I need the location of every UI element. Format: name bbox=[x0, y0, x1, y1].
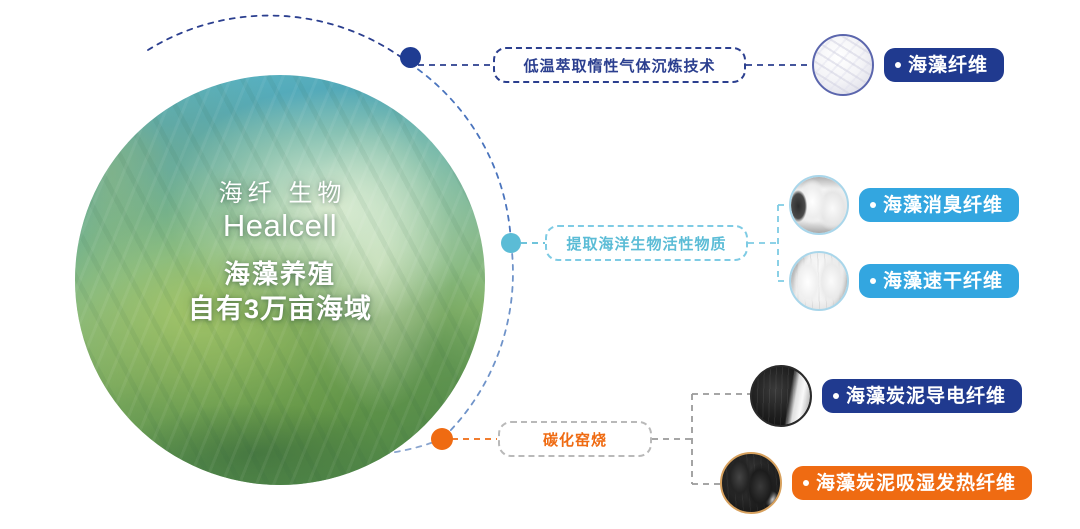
stage-dot-carbonize[interactable] bbox=[431, 428, 453, 450]
product-pill-conductive-fiber[interactable]: 海藻炭泥导电纤维 bbox=[822, 379, 1022, 413]
hero-text-block: 海纤 生物 Healcell 海藻养殖 自有3万亩海域 bbox=[75, 181, 485, 326]
hero-kelp-circle: 海纤 生物 Healcell 海藻养殖 自有3万亩海域 bbox=[75, 75, 485, 485]
thumb-white-yarn-cone bbox=[789, 251, 849, 311]
process-label-carbonize-text: 碳化窑烧 bbox=[543, 429, 607, 450]
thumb-black-carbon-cones bbox=[720, 452, 782, 514]
product-pill-quickdry-fiber[interactable]: 海藻速干纤维 bbox=[859, 264, 1019, 298]
process-label-extract[interactable]: 提取海洋生物活性物质 bbox=[545, 225, 748, 261]
process-label-low-temp[interactable]: 低温萃取惰性气体沉炼技术 bbox=[493, 47, 746, 83]
infographic-canvas: 海纤 生物 Healcell 海藻养殖 自有3万亩海域 低温萃取惰性气体沉炼技术… bbox=[0, 0, 1080, 529]
product-name-heating-fiber: 海藻炭泥吸湿发热纤维 bbox=[816, 474, 1016, 493]
hero-tagline-line-2: 自有3万亩海域 bbox=[75, 293, 485, 327]
product-row-conductive-fiber[interactable]: 海藻炭泥导电纤维 bbox=[750, 365, 1022, 427]
process-label-extract-text: 提取海洋生物活性物质 bbox=[566, 233, 726, 254]
pill-bullet-icon bbox=[803, 480, 809, 486]
process-label-low-temp-text: 低温萃取惰性气体沉炼技术 bbox=[523, 55, 715, 76]
pill-bullet-icon bbox=[870, 278, 876, 284]
stage-dot-low-temp[interactable] bbox=[400, 47, 421, 68]
pill-bullet-icon bbox=[870, 202, 876, 208]
product-name-quickdry-fiber: 海藻速干纤维 bbox=[883, 272, 1003, 291]
process-label-carbonize[interactable]: 碳化窑烧 bbox=[498, 421, 652, 457]
thumb-white-yarn-spools bbox=[789, 175, 849, 235]
product-pill-seaweed-fiber[interactable]: 海藻纤维 bbox=[884, 48, 1004, 82]
brand-name-cn: 海纤 生物 bbox=[80, 181, 485, 207]
product-row-heating-fiber[interactable]: 海藻炭泥吸湿发热纤维 bbox=[720, 452, 1032, 514]
brand-name-en: Healcell bbox=[75, 208, 485, 244]
product-name-deodorant-fiber: 海藻消臭纤维 bbox=[883, 196, 1003, 215]
product-name-seaweed-fiber: 海藻纤维 bbox=[908, 56, 988, 75]
product-row-deodorant-fiber[interactable]: 海藻消臭纤维 bbox=[789, 175, 1019, 235]
thumb-white-fiber-tuft bbox=[812, 34, 874, 96]
product-pill-heating-fiber[interactable]: 海藻炭泥吸湿发热纤维 bbox=[792, 466, 1032, 500]
product-row-quickdry-fiber[interactable]: 海藻速干纤维 bbox=[789, 251, 1019, 311]
thumb-black-carbon-spool bbox=[750, 365, 812, 427]
product-row-seaweed-fiber[interactable]: 海藻纤维 bbox=[812, 34, 1004, 96]
pill-bullet-icon bbox=[895, 62, 901, 68]
pill-bullet-icon bbox=[833, 393, 839, 399]
stage-dot-extract[interactable] bbox=[501, 233, 521, 253]
hero-tagline-line-1: 海藻养殖 bbox=[75, 258, 485, 291]
product-pill-deodorant-fiber[interactable]: 海藻消臭纤维 bbox=[859, 188, 1019, 222]
arc-segment-top bbox=[148, 16, 409, 63]
product-name-conductive-fiber: 海藻炭泥导电纤维 bbox=[846, 387, 1006, 406]
